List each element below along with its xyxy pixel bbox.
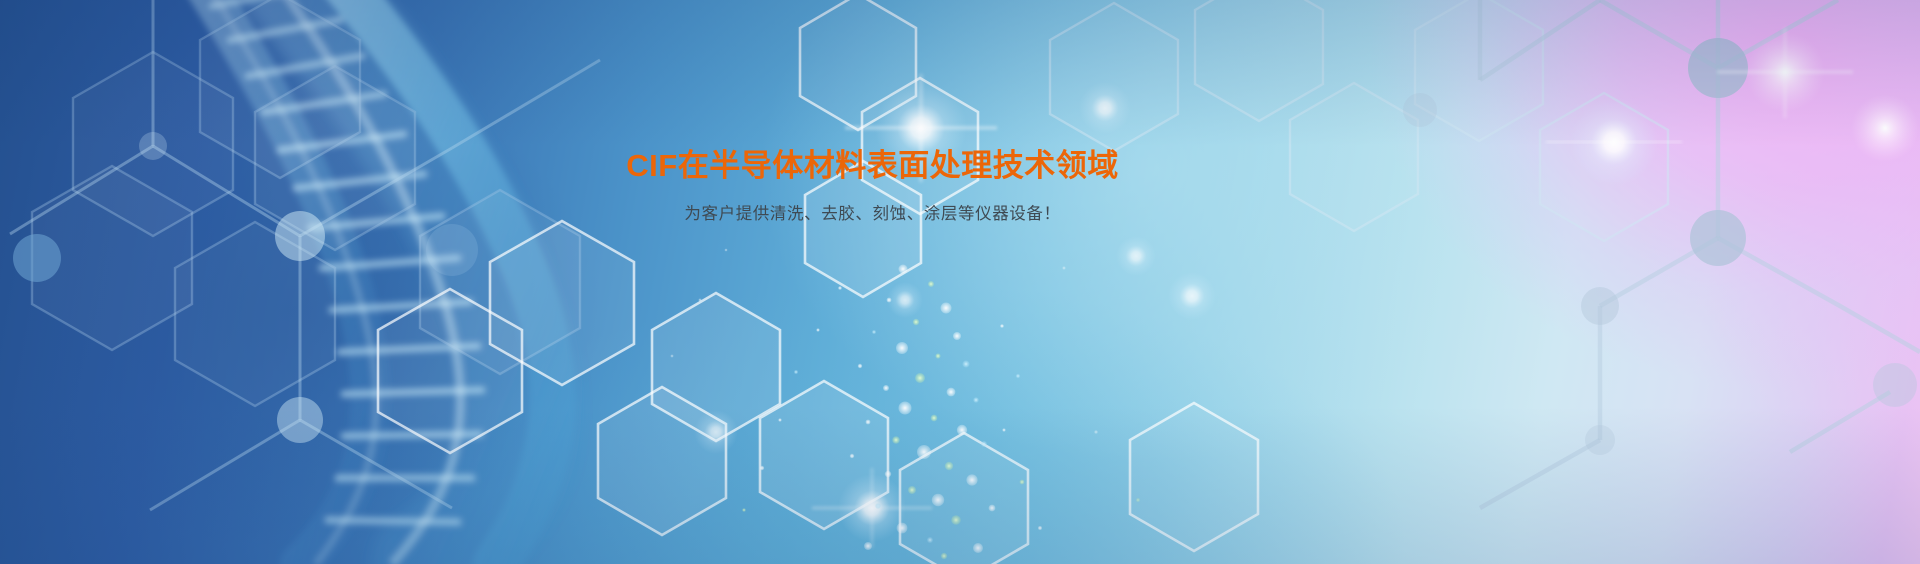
page-subtitle: 为客户提供清洗、去胶、刻蚀、涂层等仪器设备！ [0,203,1745,226]
particle-burst [0,0,1920,564]
hero-copy-block: CIF在半导体材料表面处理技术领域 为客户提供清洗、去胶、刻蚀、涂层等仪器设备！ [0,148,1745,226]
page-title: CIF在半导体材料表面处理技术领域 [0,148,1745,185]
hero-banner: CIF在半导体材料表面处理技术领域 为客户提供清洗、去胶、刻蚀、涂层等仪器设备！ [0,0,1920,564]
